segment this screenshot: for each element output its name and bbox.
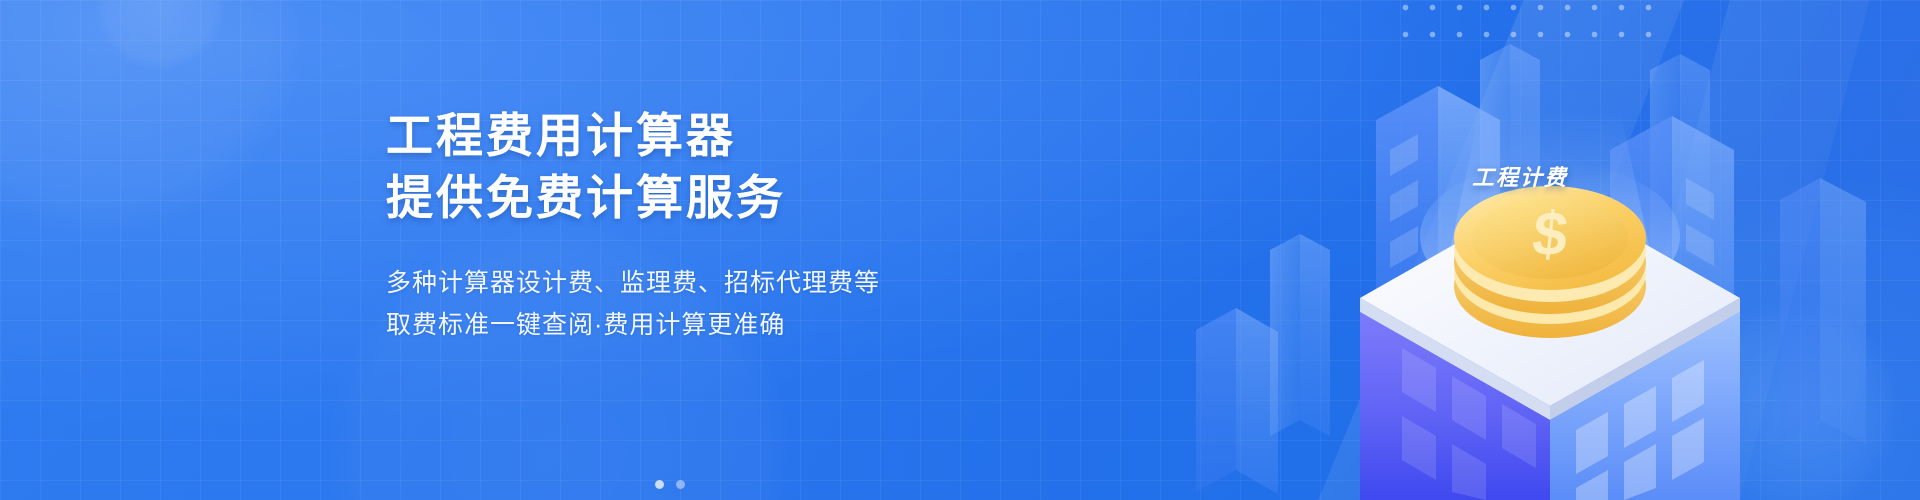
promo-banner: $ 工程计费 工程费用计算器 提供免费计算服务 多种计算器设计费、监理费、招标代… <box>0 0 1920 500</box>
banner-subtitle-line-2: 取费标准一键查阅·费用计算更准确 <box>386 304 1026 346</box>
carousel-indicators[interactable] <box>655 480 685 489</box>
banner-subtitle-line-1: 多种计算器设计费、监理费、招标代理费等 <box>386 262 1026 304</box>
banner-title-line-2: 提供免费计算服务 <box>386 170 1026 226</box>
carousel-dot-1[interactable] <box>655 480 664 489</box>
dollar-coin-icon: $ <box>1454 186 1646 338</box>
banner-illustration: $ 工程计费 <box>1180 0 1920 500</box>
tower-far-right <box>1780 178 1866 444</box>
illustration-badge: 工程计费 <box>1472 160 1568 192</box>
svg-text:$: $ <box>1529 200 1571 269</box>
banner-title-line-1: 工程费用计算器 <box>386 108 1026 164</box>
decorative-blob-top-left <box>0 0 310 240</box>
dollar-sign: $ <box>1529 200 1571 269</box>
carousel-dot-2[interactable] <box>676 480 685 489</box>
block-small-left <box>1196 308 1278 494</box>
decorative-blob-top-left-small <box>95 0 225 70</box>
banner-copy: 工程费用计算器 提供免费计算服务 多种计算器设计费、监理费、招标代理费等 取费标… <box>386 108 1026 346</box>
